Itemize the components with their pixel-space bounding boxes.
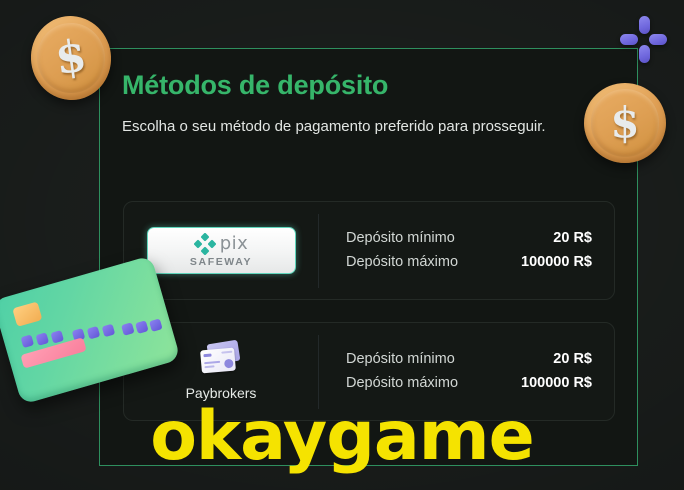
plus-bar-bottom — [639, 45, 650, 63]
plus-bar-right — [649, 34, 667, 45]
paybrokers-max-value: 100000 R$ — [521, 372, 592, 395]
pix-wordmark: pix — [220, 235, 249, 253]
card-mark — [203, 354, 211, 358]
pix-diamonds-icon — [194, 233, 216, 255]
pix-min-label: Depósito mínimo — [346, 227, 455, 250]
pix-max-value: 100000 R$ — [521, 251, 592, 274]
credit-card-icon — [199, 342, 243, 378]
pix-logo-row: pix — [194, 233, 249, 255]
payment-methods-list: pix SAFEWAY Depósito mínimo 20 R$ Depósi… — [123, 201, 615, 421]
card-line-2 — [204, 365, 214, 368]
pix-logo-card[interactable]: pix SAFEWAY — [147, 227, 296, 274]
paybrokers-min-line: Depósito mínimo 20 R$ — [346, 348, 592, 371]
paybrokers-min-value: 20 R$ — [553, 348, 592, 371]
pix-safeway-label: SAFEWAY — [190, 256, 252, 268]
coin-face: $ — [591, 89, 660, 156]
pix-max-line: Depósito máximo 100000 R$ — [346, 251, 592, 274]
gold-coin-icon-right: $ — [584, 83, 666, 163]
pix-max-label: Depósito máximo — [346, 251, 458, 274]
pix-limits: Depósito mínimo 20 R$ Depósito máximo 10… — [319, 227, 614, 274]
pix-min-value: 20 R$ — [553, 227, 592, 250]
paybrokers-max-label: Depósito máximo — [346, 372, 458, 395]
paybrokers-min-label: Depósito mínimo — [346, 348, 455, 371]
paybrokers-max-line: Depósito máximo 100000 R$ — [346, 372, 592, 395]
page-subtitle: Escolha o seu método de pagamento prefer… — [122, 115, 582, 138]
card-chip-circle — [224, 359, 234, 369]
dollar-sign-icon: $ — [53, 34, 89, 82]
plus-bar-top — [639, 16, 650, 34]
paybrokers-limits: Depósito mínimo 20 R$ Depósito máximo 10… — [319, 348, 614, 395]
watermark: okaygame — [0, 403, 684, 471]
payment-method-pix[interactable]: pix SAFEWAY Depósito mínimo 20 R$ Depósi… — [123, 201, 615, 300]
paybrokers-logo[interactable]: Paybrokers — [186, 342, 257, 401]
credit-card-front — [200, 348, 236, 374]
dollar-sign-icon: $ — [610, 102, 639, 144]
card-numbers — [221, 351, 232, 354]
card-line-1 — [204, 361, 220, 364]
page-title: Métodos de depósito — [122, 70, 388, 101]
plus-bar-left — [620, 34, 638, 45]
pix-min-line: Depósito mínimo 20 R$ — [346, 227, 592, 250]
plus-decoration-icon — [620, 16, 668, 64]
